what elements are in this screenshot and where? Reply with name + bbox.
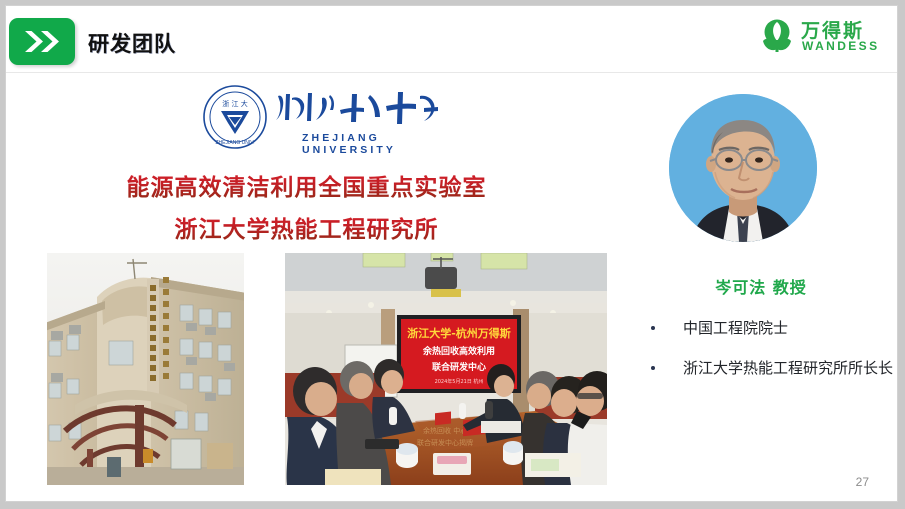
svg-text:余热回收 中心: 余热回收 中心 <box>423 426 467 435</box>
lab-building-photo <box>47 253 244 485</box>
svg-text:ZHEJIANG UNIV.: ZHEJIANG UNIV. <box>216 140 255 146</box>
page-title: 研发团队 <box>88 28 176 58</box>
professor-portrait-photo <box>669 94 817 242</box>
university-name-en: ZHEJIANG UNIVERSITY <box>302 132 442 156</box>
university-logo: 浙 江 大 ZHEJIANG UNIV. ZHEJIANG UNIVERSITY <box>202 84 442 152</box>
svg-text:联合研发中心: 联合研发中心 <box>432 361 486 373</box>
lab-title-line1: 能源高效清洁利用全国重点实验室 <box>6 168 607 202</box>
svg-text:2024年5月21日 杭州: 2024年5月21日 杭州 <box>435 378 484 385</box>
brand-logo: 万得斯 WANDESS <box>759 16 885 58</box>
svg-text:浙江大学-杭州万得斯: 浙江大学-杭州万得斯 <box>407 326 511 340</box>
header-divider <box>6 72 898 73</box>
page-number: 27 <box>856 475 869 489</box>
double-chevron-right-icon <box>9 18 75 65</box>
wandess-leaf-logo-icon <box>759 18 795 54</box>
university-name-calligraphy <box>274 86 442 130</box>
joint-center-meeting-photo: 浙江大学-杭州万得斯 余热回收高效利用 联合研发中心 2024年5月21日 杭州… <box>285 253 607 485</box>
list-item: 浙江大学热能工程研究所所长长 <box>643 358 893 380</box>
svg-text:浙 江 大: 浙 江 大 <box>222 99 247 108</box>
zhejiang-university-seal-icon: 浙 江 大 ZHEJIANG UNIV. <box>202 84 268 150</box>
section-badge <box>9 18 75 65</box>
list-item: 中国工程院院士 <box>643 318 893 340</box>
lab-title-line2: 浙江大学热能工程研究所 <box>6 210 607 244</box>
svg-text:联合研发中心揭牌: 联合研发中心揭牌 <box>417 438 473 447</box>
professor-credentials-list: 中国工程院院士 浙江大学热能工程研究所所长长 <box>643 318 893 398</box>
professor-name: 岑可法 教授 <box>636 274 886 298</box>
slide: 研发团队 万得斯 WANDESS 浙 江 大 ZHEJIANG UNIV. <box>5 5 898 502</box>
brand-name-en: WANDESS <box>802 39 879 53</box>
svg-text:余热回收高效利用: 余热回收高效利用 <box>422 345 495 357</box>
